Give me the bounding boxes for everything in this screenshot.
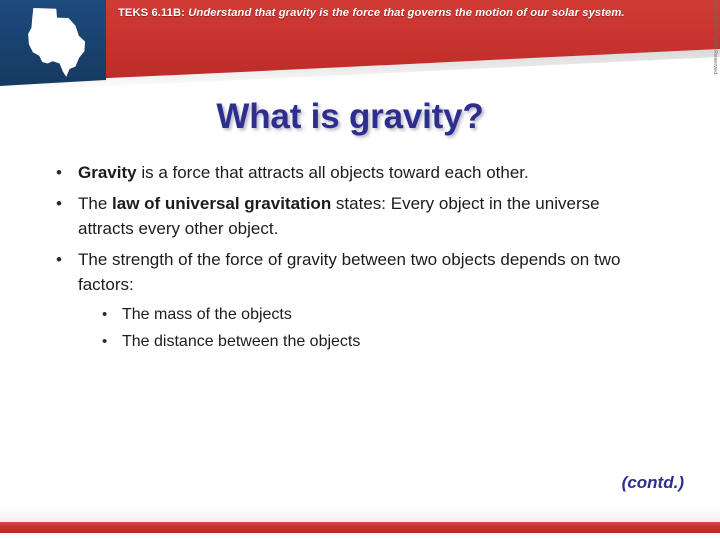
sub-list-item: • The mass of the objects [102,303,646,327]
teks-description: Understand that gravity is the force tha… [185,7,625,19]
sub-bullet-marker: • [102,303,122,327]
sub-list-item-text: The distance between the objects [122,330,646,354]
emphasis-term: Gravity [78,163,137,182]
sub-bullet-list: • The mass of the objects • The distance… [102,303,646,354]
slide-canvas: TEKS 6.11B: Understand that gravity is t… [0,0,720,539]
teks-code: TEKS 6.11B: [118,7,185,19]
list-item-lead: The [78,194,112,213]
list-item: • The law of universal gravitation state… [56,191,646,241]
list-item-text: The law of universal gravitation states:… [78,191,646,241]
list-item: • Gravity is a force that attracts all o… [56,160,646,185]
bullet-marker: • [56,247,78,272]
list-item-text: Gravity is a force that attracts all obj… [78,160,646,185]
sub-bullet-marker: • [102,330,122,354]
bullet-marker: • [56,160,78,185]
copyright-notice: Copyright © Pearson Education, Inc., or … [712,0,718,140]
page-title: What is gravity? [0,97,700,137]
footer-tail [0,533,720,539]
footer-fade [0,505,720,523]
sub-list-item-text: The mass of the objects [122,303,646,327]
list-item: • The strength of the force of gravity b… [56,247,646,297]
continued-label: (contd.) [622,473,684,493]
sub-list-item: • The distance between the objects [102,330,646,354]
header-band: TEKS 6.11B: Understand that gravity is t… [0,0,720,92]
footer-bar [0,522,720,533]
list-item-text: The strength of the force of gravity bet… [78,247,646,297]
bullet-list: • Gravity is a force that attracts all o… [56,160,646,357]
teks-standard-line: TEKS 6.11B: Understand that gravity is t… [118,6,698,20]
bullet-marker: • [56,191,78,216]
emphasis-term: law of universal gravitation [112,194,331,213]
list-item-rest: is a force that attracts all objects tow… [137,163,529,182]
